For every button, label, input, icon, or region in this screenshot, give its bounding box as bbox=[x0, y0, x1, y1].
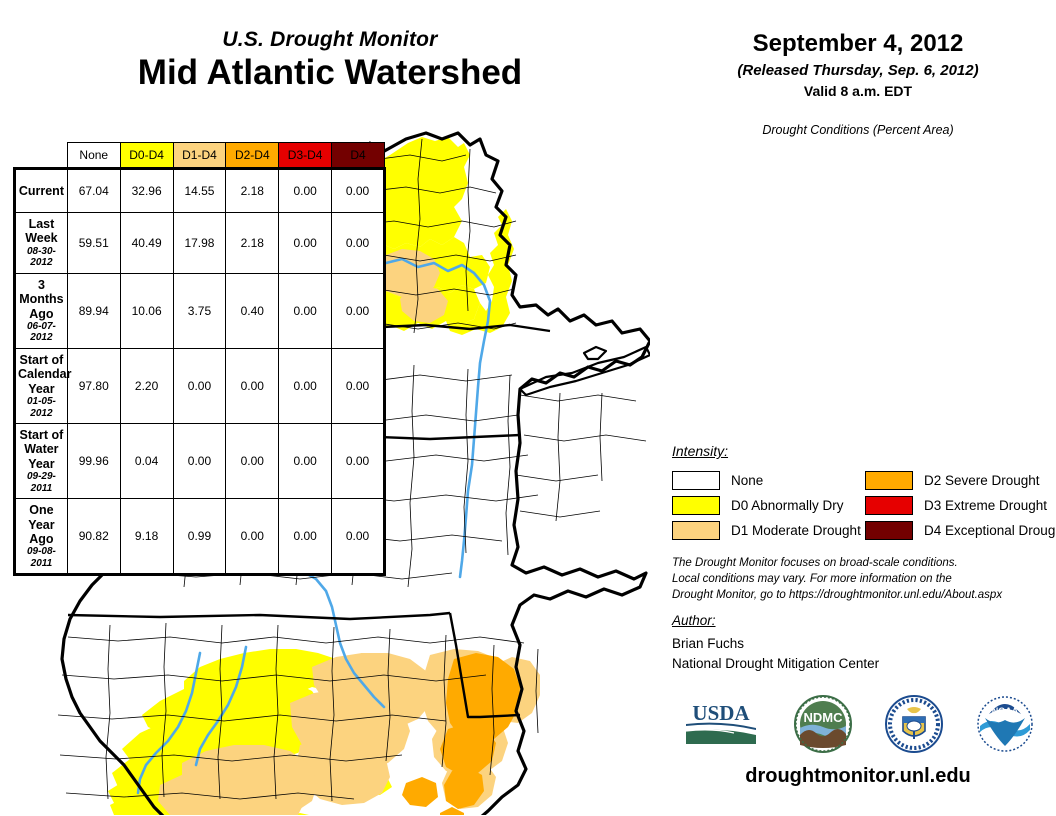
page-title: Mid Atlantic Watershed bbox=[0, 53, 660, 93]
cell-3months-d3d4: 0.00 bbox=[279, 273, 332, 348]
table-row: 3 Months Ago 06-07-2012 89.94 10.06 3.75… bbox=[15, 273, 385, 348]
legend-label-d3: D3 Extreme Drought bbox=[924, 498, 1047, 513]
cell-lastweek-d2d4: 2.18 bbox=[226, 213, 279, 274]
cell-lastweek-none: 59.51 bbox=[67, 213, 120, 274]
row-label-one-year-ago: One Year Ago 09-08-2011 bbox=[15, 499, 68, 575]
swatch-d3-icon bbox=[865, 496, 913, 515]
svg-text:NOAA: NOAA bbox=[992, 706, 1019, 716]
cell-wateryear-d4: 0.00 bbox=[332, 424, 385, 499]
legend-column-right: D2 Severe Drought D3 Extreme Drought D4 … bbox=[865, 468, 1056, 543]
cell-lastweek-d0d4: 40.49 bbox=[120, 213, 173, 274]
cell-oneyear-d4: 0.00 bbox=[332, 499, 385, 575]
cell-calyear-d2d4: 0.00 bbox=[226, 348, 279, 423]
valid-time: Valid 8 a.m. EDT bbox=[660, 83, 1056, 99]
cell-current-d1d4: 14.55 bbox=[173, 169, 226, 213]
cell-calyear-d3d4: 0.00 bbox=[279, 348, 332, 423]
cell-calyear-d0d4: 2.20 bbox=[120, 348, 173, 423]
cell-current-d0d4: 32.96 bbox=[120, 169, 173, 213]
col-header-d4: D4 bbox=[332, 143, 385, 169]
legend-item-d0: D0 Abnormally Dry bbox=[672, 493, 861, 518]
cell-lastweek-d4: 0.00 bbox=[332, 213, 385, 274]
legend-item-d1: D1 Moderate Drought bbox=[672, 518, 861, 543]
author-organization: National Drought Mitigation Center bbox=[672, 654, 879, 674]
col-header-none: None bbox=[67, 143, 120, 169]
cell-wateryear-none: 99.96 bbox=[67, 424, 120, 499]
author-heading: Author: bbox=[672, 613, 716, 628]
cell-oneyear-d1d4: 0.99 bbox=[173, 499, 226, 575]
disclaimer-line-1: The Drought Monitor focuses on broad-sca… bbox=[672, 556, 1052, 572]
map-title-block: U.S. Drought Monitor Mid Atlantic Waters… bbox=[0, 28, 660, 93]
row-label-current: Current bbox=[15, 169, 68, 213]
col-header-d2-d4: D2-D4 bbox=[226, 143, 279, 169]
cell-lastweek-d1d4: 17.98 bbox=[173, 213, 226, 274]
legend-label-d1: D1 Moderate Drought bbox=[731, 523, 861, 538]
table-row: One Year Ago 09-08-2011 90.82 9.18 0.99 … bbox=[15, 499, 385, 575]
legend-label-d4: D4 Exceptional Drought bbox=[924, 523, 1056, 538]
table-row: Start of Water Year 09-29-2011 99.96 0.0… bbox=[15, 424, 385, 499]
row-label-start-calendar-year: Start of Calendar Year 01-05-2012 bbox=[15, 348, 68, 423]
table-caption: Drought Conditions (Percent Area) bbox=[660, 123, 1056, 137]
legend-label-none: None bbox=[731, 473, 763, 488]
legend-item-d3: D3 Extreme Drought bbox=[865, 493, 1056, 518]
drought-conditions-table: None D0-D4 D1-D4 D2-D4 D3-D4 D4 Current … bbox=[13, 142, 386, 576]
cell-wateryear-d3d4: 0.00 bbox=[279, 424, 332, 499]
legend-item-d2: D2 Severe Drought bbox=[865, 468, 1056, 493]
cell-3months-d0d4: 10.06 bbox=[120, 273, 173, 348]
swatch-d2-icon bbox=[865, 471, 913, 490]
cell-3months-d2d4: 0.40 bbox=[226, 273, 279, 348]
cell-wateryear-d2d4: 0.00 bbox=[226, 424, 279, 499]
table-header-spacer bbox=[15, 143, 68, 169]
table-row: Last Week 08-30-2012 59.51 40.49 17.98 2… bbox=[15, 213, 385, 274]
cell-current-d4: 0.00 bbox=[332, 169, 385, 213]
disclaimer-line-2: Local conditions may vary. For more info… bbox=[672, 572, 1052, 588]
legend-label-d2: D2 Severe Drought bbox=[924, 473, 1040, 488]
legend-item-d4: D4 Exceptional Drought bbox=[865, 518, 1056, 543]
cell-calyear-d4: 0.00 bbox=[332, 348, 385, 423]
cell-3months-d4: 0.00 bbox=[332, 273, 385, 348]
usdc-logo bbox=[885, 695, 943, 753]
legend-column-left: None D0 Abnormally Dry D1 Moderate Droug… bbox=[672, 468, 861, 543]
table-header-row: None D0-D4 D1-D4 D2-D4 D3-D4 D4 bbox=[15, 143, 385, 169]
cell-wateryear-d0d4: 0.04 bbox=[120, 424, 173, 499]
cell-oneyear-d0d4: 9.18 bbox=[120, 499, 173, 575]
legend-item-none: None bbox=[672, 468, 861, 493]
date-block: September 4, 2012 (Released Thursday, Se… bbox=[660, 30, 1056, 99]
release-date: (Released Thursday, Sep. 6, 2012) bbox=[660, 62, 1056, 79]
disclaimer-text: The Drought Monitor focuses on broad-sca… bbox=[672, 556, 1052, 604]
cell-3months-none: 89.94 bbox=[67, 273, 120, 348]
row-label-start-water-year: Start of Water Year 09-29-2011 bbox=[15, 424, 68, 499]
cell-current-d3d4: 0.00 bbox=[279, 169, 332, 213]
table-row: Start of Calendar Year 01-05-2012 97.80 … bbox=[15, 348, 385, 423]
cell-oneyear-none: 90.82 bbox=[67, 499, 120, 575]
cell-3months-d1d4: 3.75 bbox=[173, 273, 226, 348]
table-body: Current 67.04 32.96 14.55 2.18 0.00 0.00… bbox=[15, 169, 385, 575]
col-header-d0-d4: D0-D4 bbox=[120, 143, 173, 169]
table-header: None D0-D4 D1-D4 D2-D4 D3-D4 D4 bbox=[15, 143, 385, 169]
col-header-d3-d4: D3-D4 bbox=[279, 143, 332, 169]
noaa-logo: NOAA bbox=[977, 696, 1033, 752]
cell-wateryear-d1d4: 0.00 bbox=[173, 424, 226, 499]
website-url[interactable]: droughtmonitor.unl.edu bbox=[660, 765, 1056, 788]
cell-calyear-none: 97.80 bbox=[67, 348, 120, 423]
author-block: Brian Fuchs National Drought Mitigation … bbox=[672, 634, 879, 675]
col-header-d1-d4: D1-D4 bbox=[173, 143, 226, 169]
usda-logo: USDA bbox=[682, 700, 760, 748]
legend-heading: Intensity: bbox=[672, 443, 728, 459]
cell-current-none: 67.04 bbox=[67, 169, 120, 213]
swatch-d0-icon bbox=[672, 496, 720, 515]
cell-oneyear-d2d4: 0.00 bbox=[226, 499, 279, 575]
svg-text:USDA: USDA bbox=[692, 701, 750, 725]
cell-current-d2d4: 2.18 bbox=[226, 169, 279, 213]
ndmc-logo: NDMC bbox=[794, 695, 852, 753]
author-name: Brian Fuchs bbox=[672, 634, 879, 654]
row-label-last-week: Last Week 08-30-2012 bbox=[15, 213, 68, 274]
swatch-none-icon bbox=[672, 471, 720, 490]
disclaimer-line-3[interactable]: Drought Monitor, go to https://droughtmo… bbox=[672, 588, 1052, 604]
svg-text:NDMC: NDMC bbox=[803, 710, 843, 725]
report-date: September 4, 2012 bbox=[660, 30, 1056, 59]
legend-label-d0: D0 Abnormally Dry bbox=[731, 498, 844, 513]
swatch-d1-icon bbox=[672, 521, 720, 540]
map-subtitle: U.S. Drought Monitor bbox=[0, 28, 660, 51]
swatch-d4-icon bbox=[865, 521, 913, 540]
table-row: Current 67.04 32.96 14.55 2.18 0.00 0.00 bbox=[15, 169, 385, 213]
row-label-3-months-ago: 3 Months Ago 06-07-2012 bbox=[15, 273, 68, 348]
cell-oneyear-d3d4: 0.00 bbox=[279, 499, 332, 575]
cell-lastweek-d3d4: 0.00 bbox=[279, 213, 332, 274]
cell-calyear-d1d4: 0.00 bbox=[173, 348, 226, 423]
logo-strip: USDA NDMC NOAA bbox=[665, 693, 1050, 755]
